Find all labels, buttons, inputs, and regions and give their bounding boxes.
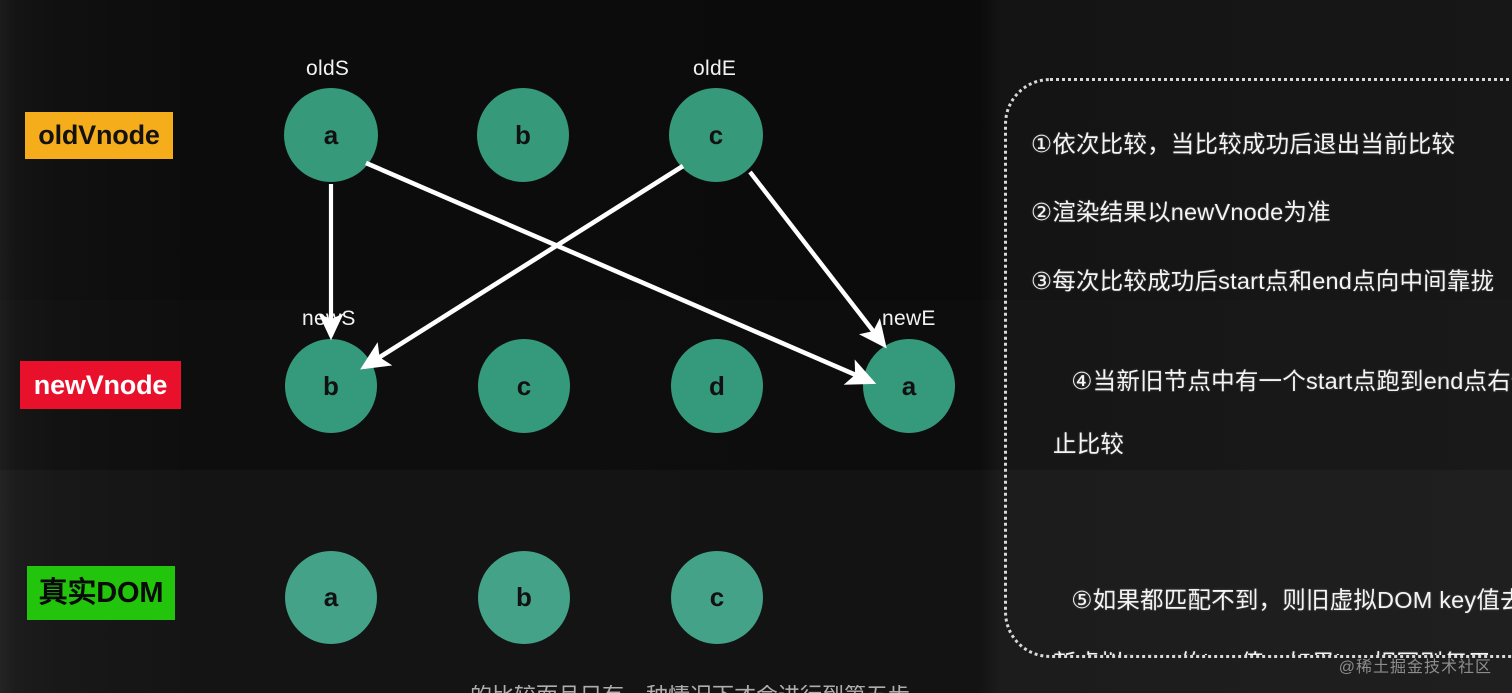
arrow-olde-to-newe — [750, 172, 884, 345]
new-node-b: b — [285, 339, 377, 433]
dom-node-a-label: a — [324, 582, 338, 613]
new-node-b-label: b — [323, 371, 339, 402]
old-node-c-label: c — [709, 120, 723, 151]
arrow-olde-to-news — [364, 166, 683, 367]
new-node-d: d — [671, 339, 763, 433]
diagram-canvas: oldVnode newVnode 真实DOM a b c oldS oldE … — [0, 0, 1512, 693]
news-pointer-label: newS — [302, 307, 356, 331]
dom-node-a: a — [285, 551, 377, 644]
new-node-a: a — [863, 339, 955, 433]
rule-3: ③每次比较成功后start点和end点向中间靠拢 — [1031, 266, 1512, 297]
rule-4: ④当新旧节点中有一个start点跑到end点右侧时终 止比较 — [1031, 334, 1512, 523]
old-node-c: c — [669, 88, 763, 182]
dom-node-c: c — [671, 551, 763, 644]
rule-5-line-1: ⑤如果都匹配不到，则旧虚拟DOM key值去比对 — [1071, 587, 1512, 613]
olde-pointer-label: oldE — [693, 57, 736, 81]
dom-node-c-label: c — [710, 582, 724, 613]
new-node-c-label: c — [517, 371, 531, 402]
rule-1: ①依次比较，当比较成功后退出当前比较 — [1031, 129, 1512, 160]
watermark: @稀土掘金技术社区 — [1339, 653, 1492, 677]
rule-2: ②渲染结果以newVnode为准 — [1031, 197, 1512, 228]
newe-pointer-label: newE — [882, 307, 936, 331]
realdom-badge: 真实DOM — [27, 566, 175, 620]
bottom-caption-sliver: 的比较而且只有一种情况下才会进行到第五步 — [470, 685, 970, 693]
olds-pointer-label: oldS — [306, 57, 349, 81]
new-node-a-label: a — [902, 371, 916, 402]
new-node-d-label: d — [709, 371, 725, 402]
rule-5: ⑤如果都匹配不到，则旧虚拟DOM key值去比对 新虚拟DOM的key值，如果k… — [1031, 553, 1512, 658]
oldvnode-badge: oldVnode — [25, 112, 173, 159]
rules-panel: ①依次比较，当比较成功后退出当前比较 ②渲染结果以newVnode为准 ③每次比… — [1004, 78, 1512, 658]
rule-4-line-1: ④当新旧节点中有一个start点跑到end点右侧时终 — [1071, 368, 1512, 394]
arrow-olds-to-newe — [366, 163, 872, 382]
newvnode-badge: newVnode — [20, 361, 181, 409]
new-node-c: c — [478, 339, 570, 433]
old-node-b-label: b — [515, 120, 531, 151]
old-node-b: b — [477, 88, 569, 182]
old-node-a-label: a — [324, 120, 338, 151]
old-node-a: a — [284, 88, 378, 182]
dom-node-b: b — [478, 551, 570, 644]
dom-node-b-label: b — [516, 582, 532, 613]
rule-4-line-2: 止比较 — [1031, 429, 1512, 460]
